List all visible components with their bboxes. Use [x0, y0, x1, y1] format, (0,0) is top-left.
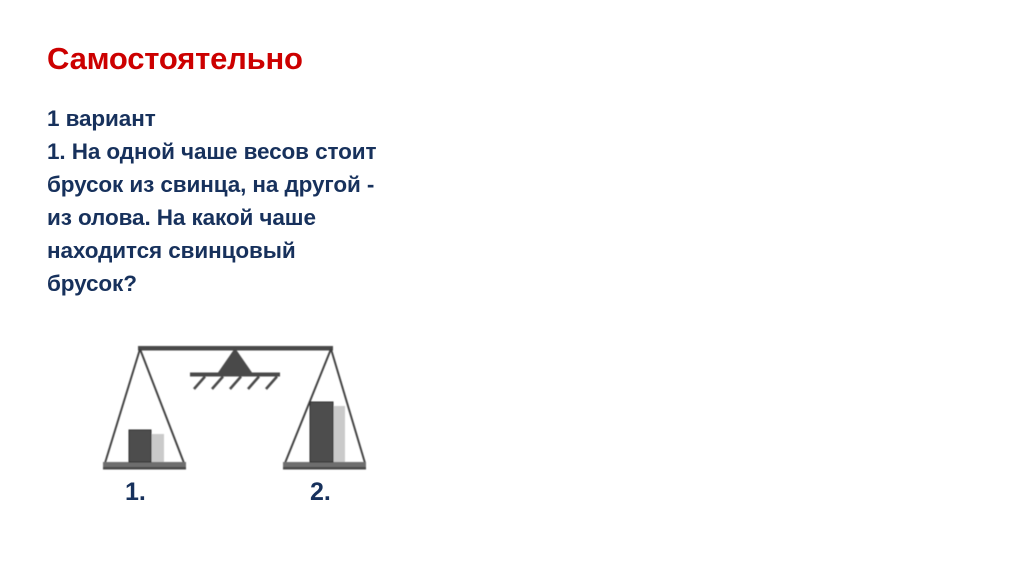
text-line-4: находится свинцовый — [47, 234, 477, 267]
left-block — [129, 430, 151, 462]
page-title: Самостоятельно — [47, 41, 303, 77]
right-pan-plate — [283, 462, 366, 468]
text-line-2: брусок из свинца, на другой - — [47, 168, 477, 201]
pan-caption-1: 1. — [125, 478, 146, 507]
pan-caption-2: 2. — [310, 478, 331, 507]
ground-hatching — [194, 377, 277, 390]
slide-canvas: Самостоятельно 1 вариант 1. На одной чаш… — [0, 0, 1024, 574]
left-block-shadow — [150, 434, 164, 462]
question-text-block: 1 вариант 1. На одной чаше весов стоит б… — [47, 102, 477, 300]
right-block — [310, 402, 333, 462]
left-pan-plate-edge — [103, 467, 186, 470]
left-pan-plate — [103, 462, 186, 468]
support-ground-line — [190, 373, 280, 377]
text-line-5: брусок? — [47, 267, 477, 300]
text-line-variant: 1 вариант — [47, 102, 477, 135]
fulcrum-triangle — [217, 348, 253, 374]
text-line-1: 1. На одной чаше весов стоит — [47, 135, 477, 168]
right-pan-plate-edge — [283, 467, 366, 470]
text-line-3: из олова. На какой чаше — [47, 201, 477, 234]
